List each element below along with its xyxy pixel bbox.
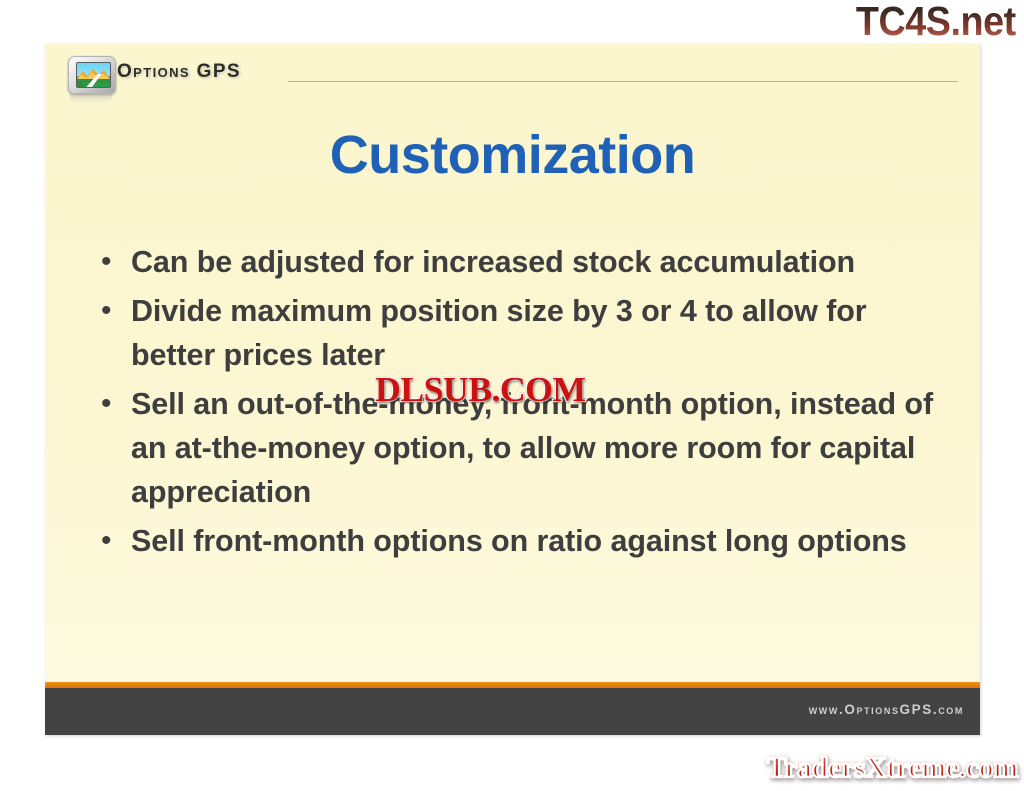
gps-device-icon — [65, 54, 119, 98]
page-title: Customization — [45, 124, 980, 186]
gps-screen — [76, 62, 111, 88]
bullet-marker-icon: • — [97, 240, 131, 284]
dlsub-watermark: DLSUB.COM — [375, 372, 586, 407]
slide-header: Options GPS — [45, 44, 980, 102]
list-item: • Can be adjusted for increased stock ac… — [97, 240, 947, 284]
slide-footer: www.OptionsGPS.com — [45, 688, 980, 735]
list-item: • Sell front-month options on ratio agai… — [97, 519, 947, 563]
footer-website-url: www.OptionsGPS.com — [809, 702, 964, 717]
header-divider-line — [288, 81, 958, 82]
brand-title: Options GPS — [117, 61, 241, 83]
list-item-text: Divide maximum position size by 3 or 4 t… — [131, 289, 947, 377]
gps-road-graphic — [77, 74, 110, 87]
tradersxtreme-watermark: TradersXtreme.com — [767, 751, 1018, 785]
list-item-text: Can be adjusted for increased stock accu… — [131, 240, 947, 284]
presentation-slide: Options GPS Customization • Can be adjus… — [45, 44, 980, 735]
bullet-marker-icon: • — [97, 382, 131, 426]
gps-icon-reflection — [70, 94, 112, 103]
tc4s-watermark: TC4S.net — [856, 0, 1016, 44]
bullet-marker-icon: • — [97, 519, 131, 563]
gps-device-body — [68, 56, 116, 94]
bullet-marker-icon: • — [97, 289, 131, 333]
list-item-text: Sell front-month options on ratio agains… — [131, 519, 947, 563]
list-item: • Divide maximum position size by 3 or 4… — [97, 289, 947, 377]
